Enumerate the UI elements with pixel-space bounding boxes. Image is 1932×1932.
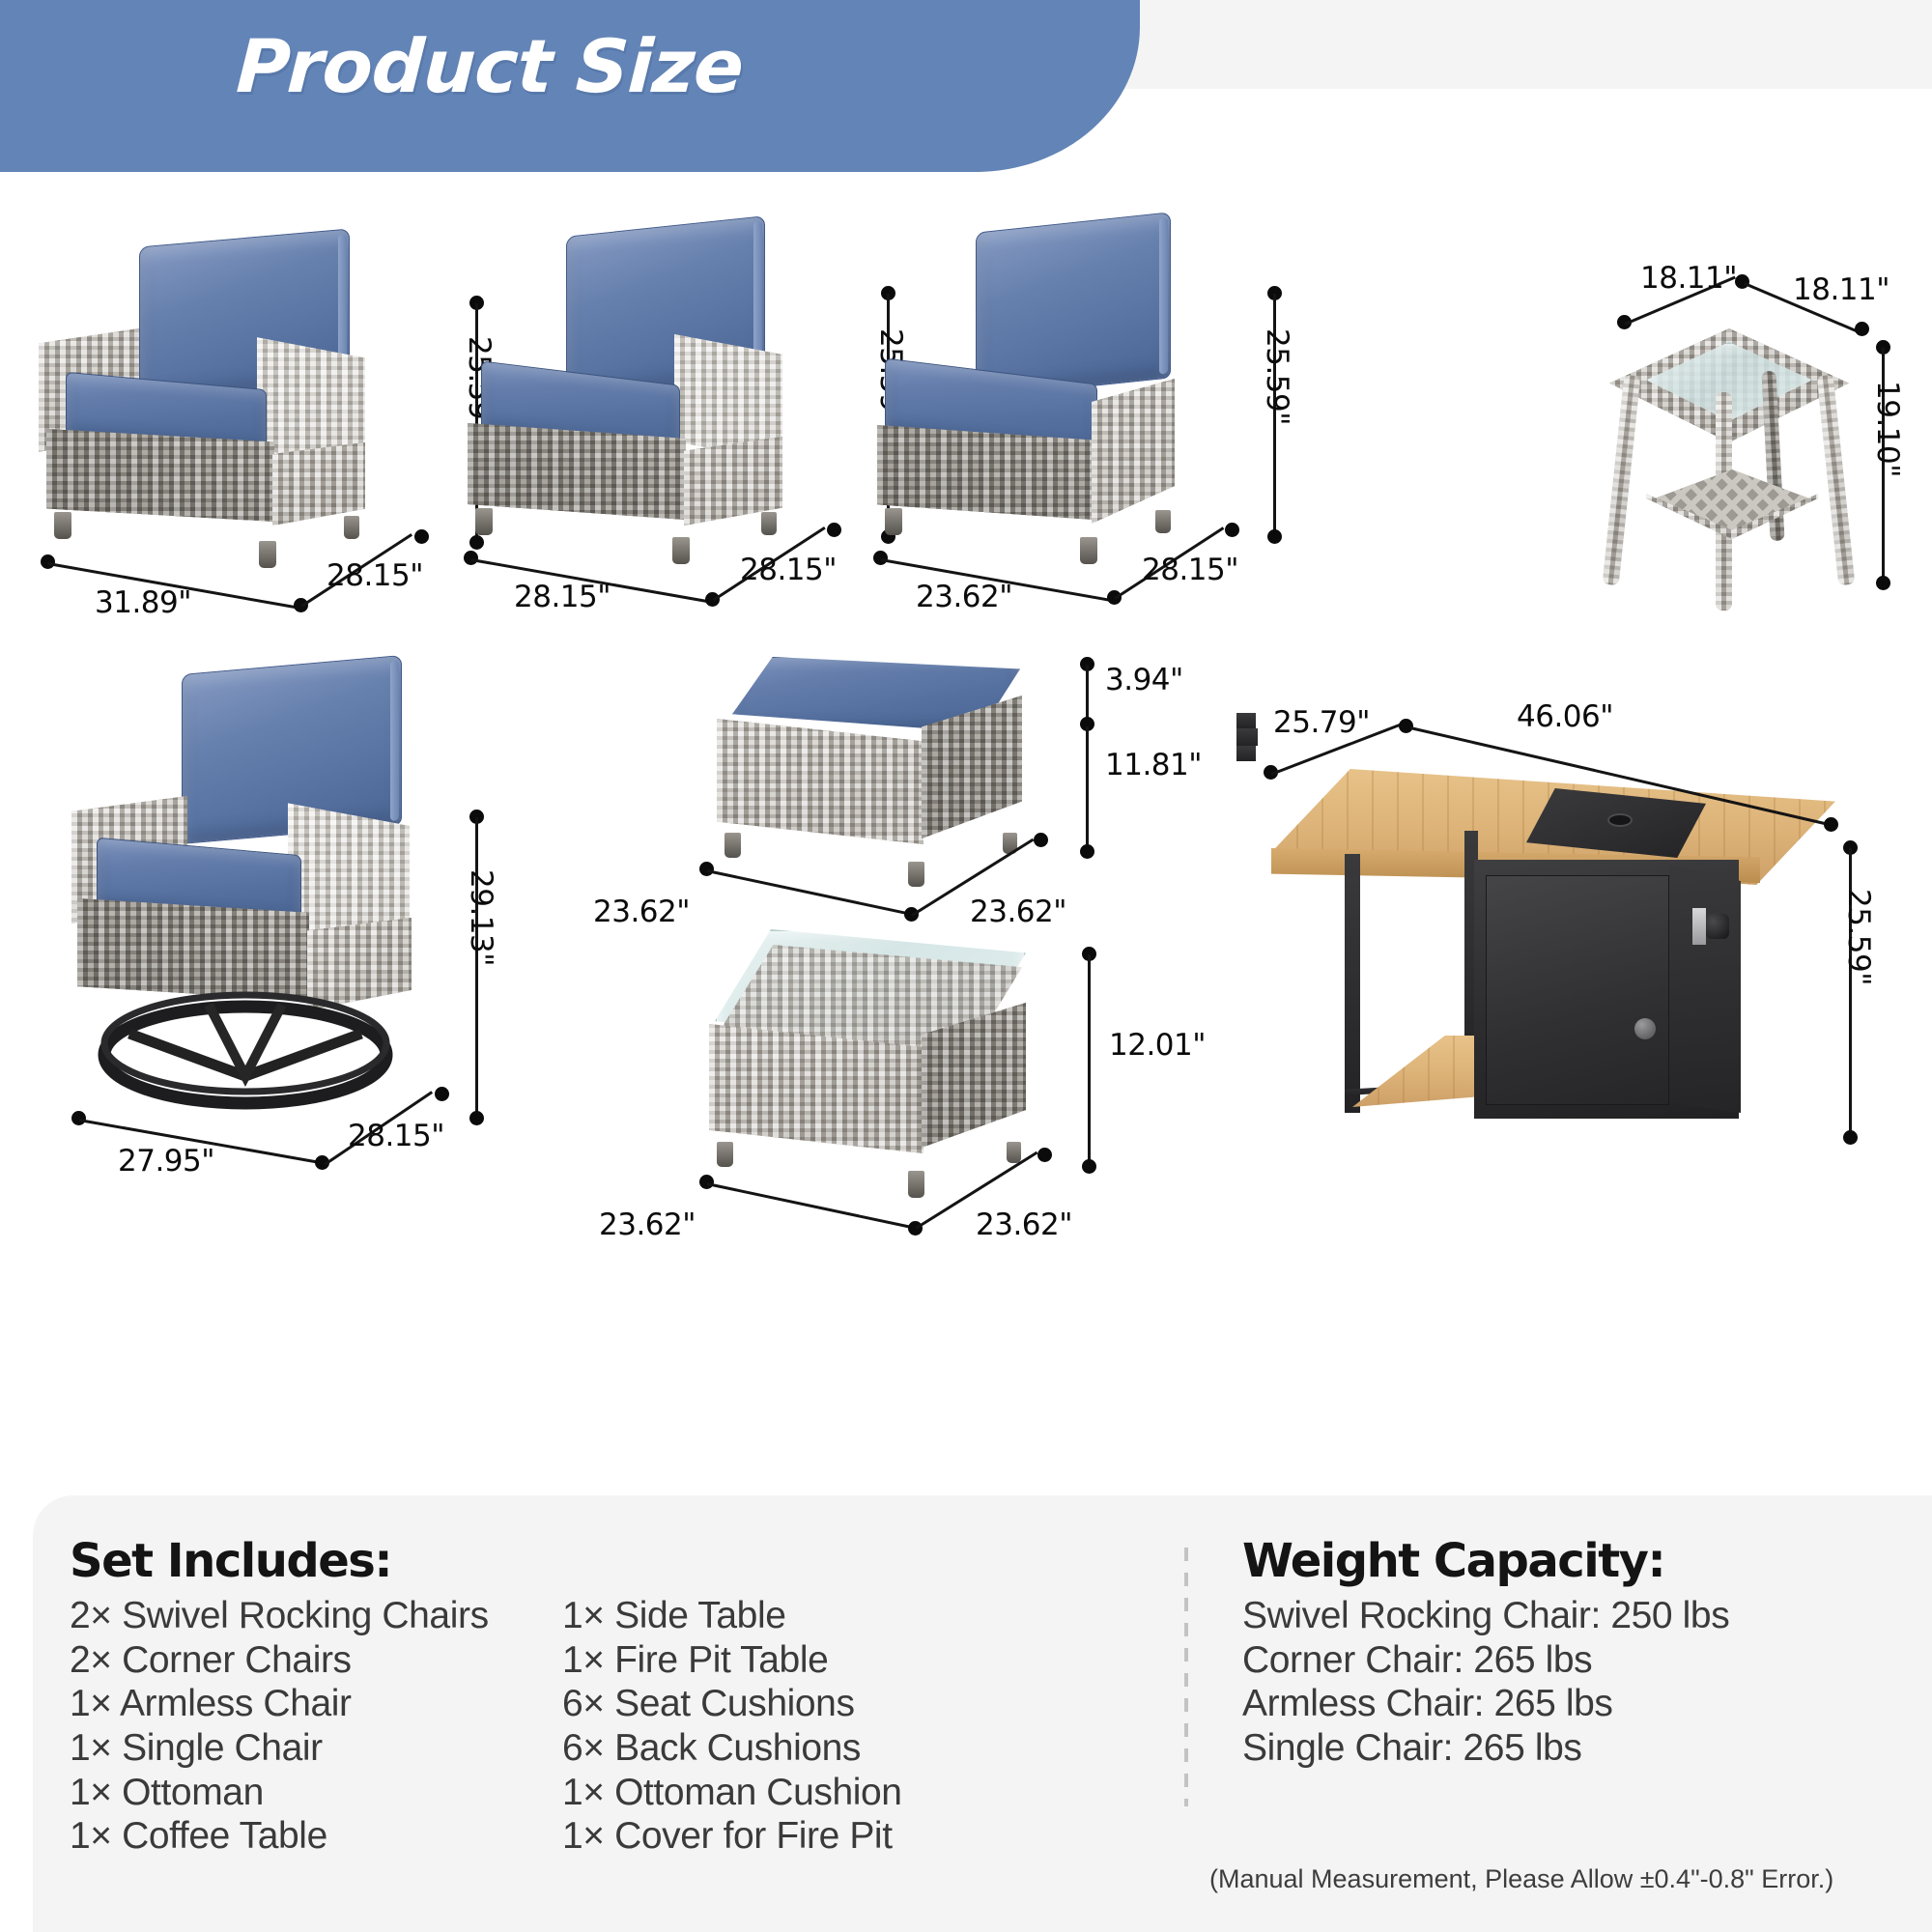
table-leg: [1603, 375, 1641, 586]
list-item: 1× Fire Pit Table: [562, 1638, 1103, 1683]
dim-label-width: 23.62": [593, 895, 690, 929]
dim-endpoint: [1082, 1159, 1096, 1174]
list-item: 1× Single Chair: [70, 1726, 572, 1771]
chair-leg: [344, 516, 359, 539]
dim-label-depth: 18.11": [1793, 272, 1889, 307]
dim-label-height: 11.81": [1105, 748, 1202, 782]
ottoman-front-panel: [717, 719, 923, 844]
bottom-info-panel: Set Includes: 2× Swivel Rocking Chairs 2…: [33, 1495, 1932, 1932]
chair-leg: [475, 508, 493, 535]
dim-line-vertical: [475, 817, 478, 1117]
dim-label-width: 46.06": [1517, 699, 1613, 734]
dim-label-width: 31.89": [95, 585, 191, 620]
fire-pit-cabinet-door: [1486, 875, 1669, 1105]
ottoman-leg: [724, 833, 741, 858]
dim-endpoint: [1037, 1148, 1052, 1162]
header-banner: Product Size: [0, 0, 1140, 172]
product-fire-pit-table: 25.79" 46.06" 25.59": [1236, 713, 1932, 1215]
product-side-table: 18.11" 18.11" 19.10": [1565, 278, 1932, 626]
cushion-piping: [390, 660, 399, 821]
right-side-panel: [272, 442, 365, 526]
dim-label-depth: 28.15": [740, 553, 837, 587]
chair-leg: [1155, 510, 1171, 533]
weight-capacity-column: Weight Capacity: Swivel Rocking Chair: 2…: [1242, 1534, 1932, 1771]
dim-label-height: 25.59": [1841, 889, 1876, 985]
weight-capacity-heading: Weight Capacity:: [1242, 1534, 1932, 1588]
dim-line-width: [707, 869, 908, 915]
coffee-table-leg: [1007, 1142, 1021, 1163]
dim-endpoint: [435, 1087, 449, 1101]
dim-label-width: 23.62": [599, 1207, 696, 1242]
lower-shelf-lattice: [1654, 469, 1810, 533]
dim-label-height: 12.01": [1109, 1028, 1206, 1063]
set-includes-column-1: Set Includes: 2× Swivel Rocking Chairs 2…: [70, 1534, 572, 1859]
dim-line-width: [707, 1182, 912, 1228]
list-item: 1× Side Table: [562, 1594, 1103, 1638]
product-corner-chair: 25.59" 28.15" 28.15": [454, 182, 908, 607]
list-item: Single Chair: 265 lbs: [1242, 1726, 1932, 1771]
product-ottoman: 3.94" 11.81" 23.62" 23.62": [715, 636, 1150, 935]
ottoman-leg: [908, 862, 924, 887]
cushion-piping: [1159, 217, 1168, 375]
list-item: 1× Coffee Table: [70, 1814, 572, 1859]
product-single-chair: 25.59" 31.89" 28.15": [19, 201, 483, 607]
list-item: 6× Back Cushions: [562, 1726, 1103, 1771]
chair-leg: [1080, 537, 1097, 564]
fire-pit-right-end-panel: [1669, 864, 1741, 1113]
dim-label-depth: 23.62": [976, 1207, 1072, 1242]
control-knob: [1706, 914, 1729, 939]
back-cushion: [976, 212, 1171, 398]
list-item: 6× Seat Cushions: [562, 1682, 1103, 1726]
dim-endpoint: [1876, 576, 1890, 590]
set-includes-heading: Set Includes:: [70, 1534, 572, 1588]
dim-endpoint: [469, 1111, 484, 1125]
fire-pit-foot: [1236, 728, 1258, 746]
chair-leg: [54, 512, 71, 539]
dim-label-height: 19.10": [1870, 381, 1905, 477]
list-item: 1× Armless Chair: [70, 1682, 572, 1726]
front-panel: [46, 429, 274, 522]
fire-pit-foot: [1236, 713, 1256, 728]
dim-label-cushion-thickness: 3.94": [1105, 663, 1183, 697]
dim-label-depth: 25.79": [1273, 705, 1370, 740]
dim-label-width: 23.62": [916, 580, 1012, 614]
front-panel: [877, 425, 1094, 520]
dim-line-vertical: [1086, 726, 1089, 850]
product-swivel-rocking-chair: 29.13" 27.95" 28.15": [58, 645, 522, 1283]
dim-label-width: 27.95": [118, 1144, 214, 1179]
front-panel: [468, 423, 686, 520]
dim-label-depth: 28.15": [327, 558, 423, 593]
page-title: Product Size: [235, 23, 746, 109]
fire-pit-left-leg-front: [1345, 854, 1360, 1113]
list-item: 2× Corner Chairs: [70, 1638, 572, 1683]
dim-label-height: 29.13": [464, 869, 498, 966]
list-item: 1× Ottoman Cushion: [562, 1771, 1103, 1815]
dim-endpoint: [1034, 833, 1048, 847]
dim-label-width: 18.11": [1640, 261, 1737, 296]
dim-label-width: 28.15": [514, 580, 611, 614]
dim-endpoint: [1855, 322, 1869, 336]
list-item: 1× Cover for Fire Pit: [562, 1814, 1103, 1859]
coffee-table-leg: [908, 1171, 924, 1198]
chair-leg: [761, 512, 777, 535]
dim-endpoint: [414, 529, 429, 544]
fire-pit-foot: [1236, 746, 1256, 761]
dim-label-height: 25.59": [1260, 328, 1294, 425]
dim-endpoint: [1824, 817, 1838, 832]
chair-leg: [672, 537, 690, 564]
table-leg: [1817, 375, 1856, 586]
product-diagram-canvas: 25.59" 31.89" 28.15" 25.: [0, 172, 1932, 1495]
dim-line-vertical: [1086, 665, 1089, 723]
cabinet-door-knob: [1634, 1018, 1656, 1039]
chair-leg: [885, 508, 902, 535]
dim-endpoint: [1225, 523, 1239, 537]
coffee-table-leg: [717, 1142, 733, 1167]
set-includes-column-2: 1× Side Table 1× Fire Pit Table 6× Seat …: [562, 1534, 1103, 1859]
chair-leg: [259, 541, 276, 568]
dim-endpoint: [1843, 1130, 1858, 1145]
list-item: Corner Chair: 265 lbs: [1242, 1638, 1932, 1683]
infographic-page: Product Size 25.59": [0, 0, 1932, 1932]
vertical-dashed-divider: [1184, 1548, 1188, 1806]
control-knob-plate: [1692, 908, 1706, 945]
list-item: Swivel Rocking Chair: 250 lbs: [1242, 1594, 1932, 1638]
list-item: 1× Ottoman: [70, 1771, 572, 1815]
dim-label-depth: 28.15": [348, 1119, 444, 1153]
measurement-disclaimer: (Manual Measurement, Please Allow ±0.4"-…: [1209, 1864, 1833, 1894]
product-armless-chair: 25.59" 23.62" 28.15": [869, 182, 1314, 607]
list-item: 2× Swivel Rocking Chairs: [70, 1594, 572, 1638]
dim-endpoint: [827, 523, 841, 537]
dim-label-depth: 28.15": [1142, 553, 1238, 587]
swivel-base-ring: [93, 983, 398, 1111]
dim-endpoint: [1267, 529, 1282, 544]
right-side-panel: [1092, 379, 1175, 524]
product-coffee-table: 12.01" 23.62" 23.62": [705, 916, 1150, 1235]
dim-endpoint: [1735, 274, 1749, 289]
dim-endpoint: [1080, 844, 1094, 859]
dim-line-vertical: [1088, 954, 1091, 1165]
list-item: Armless Chair: 265 lbs: [1242, 1682, 1932, 1726]
burner-hole: [1607, 813, 1633, 827]
